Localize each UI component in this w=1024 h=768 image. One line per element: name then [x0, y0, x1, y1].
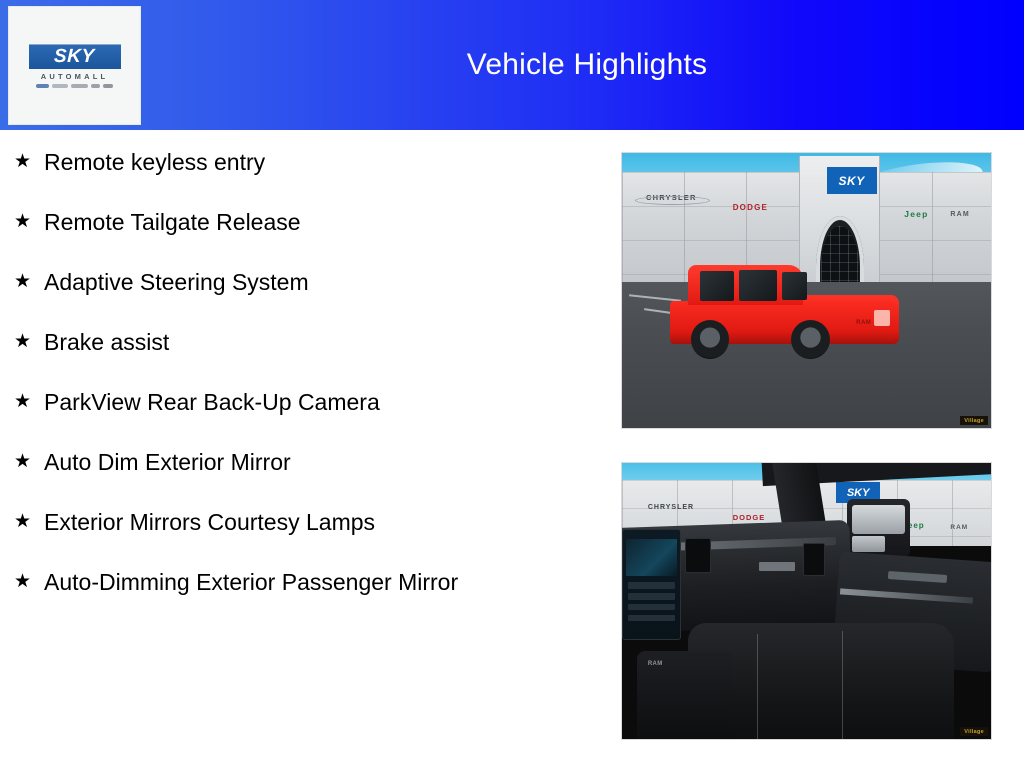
infotainment-touchscreen	[622, 529, 681, 639]
list-item: ★ Exterior Mirrors Courtesy Lamps	[0, 506, 600, 538]
sky-logo-text: SKY	[54, 47, 95, 66]
interior-scene: SKY CHRYSLER DODGE Jeep RAM	[622, 463, 991, 739]
page-title: Vehicle Highlights	[150, 0, 1024, 130]
list-item: ★ Brake assist	[0, 326, 600, 358]
truck-window	[739, 270, 778, 301]
sky-sign-text: SKY	[838, 174, 864, 188]
rear-wheel	[791, 320, 830, 359]
sky-sign-text: SKY	[847, 487, 870, 499]
list-item: ★ Adaptive Steering System	[0, 266, 600, 298]
sky-logo-plate: SKY	[29, 44, 121, 69]
dodge-sign: DODGE	[733, 513, 766, 522]
slide-header: SKY AUTOMALL Vehicle Highlights	[0, 0, 1024, 130]
mirror-glass-main	[852, 505, 905, 534]
seat-seam	[842, 631, 843, 740]
dodge-brandmark-icon	[52, 84, 68, 88]
screen-map-view	[626, 539, 676, 576]
chrysler-brandmark-icon	[36, 84, 49, 88]
air-vent	[685, 538, 711, 574]
ram-brandmark-icon	[91, 84, 100, 88]
ram-truck: RAM	[670, 263, 899, 362]
screen-row	[628, 582, 676, 589]
truck-window	[700, 271, 734, 301]
star-bullet-icon: ★	[14, 446, 44, 478]
dealer-logo-card[interactable]: SKY AUTOMALL	[8, 6, 141, 125]
side-mirror	[847, 499, 910, 557]
truck-window	[782, 272, 807, 300]
feature-label: Auto Dim Exterior Mirror	[44, 446, 291, 478]
list-item: ★ ParkView Rear Back-Up Camera	[0, 386, 600, 418]
ram-sign: RAM	[950, 211, 970, 218]
star-bullet-icon: ★	[14, 566, 44, 598]
chrysler-sign: CHRYSLER	[646, 193, 697, 202]
feature-label: Adaptive Steering System	[44, 266, 309, 298]
seat-seam	[757, 634, 758, 740]
feature-label: ParkView Rear Back-Up Camera	[44, 386, 380, 418]
dodge-sign: DODGE	[733, 203, 768, 212]
vehicle-highlights-list: ★ Remote keyless entry ★ Remote Tailgate…	[0, 146, 600, 626]
dashboard-badge	[759, 562, 796, 570]
photo-watermark: Village	[960, 727, 988, 736]
screen-row	[628, 615, 676, 622]
brand-marks-row	[29, 84, 121, 88]
air-vent	[803, 543, 825, 576]
star-bullet-icon: ★	[14, 386, 44, 418]
jeep-brandmark-icon	[71, 84, 88, 88]
exterior-scene: SKY CHRYSLER DODGE Jeep RAM	[622, 153, 991, 428]
ram-sign: RAM	[950, 524, 968, 531]
console-badge: RAM	[648, 661, 663, 667]
slide-root: SKY AUTOMALL Vehicle Highlights ★ Remote…	[0, 0, 1024, 768]
star-bullet-icon: ★	[14, 206, 44, 238]
fiat-brandmark-icon	[103, 84, 113, 88]
jeep-sign: Jeep	[904, 209, 928, 219]
screen-row	[628, 593, 676, 600]
star-bullet-icon: ★	[14, 266, 44, 298]
star-bullet-icon: ★	[14, 146, 44, 178]
list-item: ★ Remote Tailgate Release	[0, 206, 600, 238]
chrysler-sign: CHRYSLER	[648, 504, 694, 511]
dealer-logo: SKY AUTOMALL	[29, 44, 121, 88]
automall-logo-subtitle: AUTOMALL	[29, 72, 121, 81]
feature-label: Brake assist	[44, 326, 169, 358]
list-item: ★ Remote keyless entry	[0, 146, 600, 178]
star-bullet-icon: ★	[14, 326, 44, 358]
screen-row	[628, 604, 676, 611]
list-item: ★ Auto-Dimming Exterior Passenger Mirror	[0, 566, 600, 598]
feature-label: Exterior Mirrors Courtesy Lamps	[44, 506, 375, 538]
mirror-glass-spotter	[852, 536, 885, 552]
feature-label: Remote keyless entry	[44, 146, 265, 178]
vehicle-interior-photo[interactable]: SKY CHRYSLER DODGE Jeep RAM	[621, 462, 992, 740]
tail-light	[874, 310, 890, 327]
star-bullet-icon: ★	[14, 506, 44, 538]
photo-watermark: Village	[960, 416, 988, 425]
feature-label: Auto-Dimming Exterior Passenger Mirror	[44, 566, 458, 598]
vehicle-exterior-photo[interactable]: SKY CHRYSLER DODGE Jeep RAM	[621, 152, 992, 429]
list-item: ★ Auto Dim Exterior Mirror	[0, 446, 600, 478]
truck-tailgate-badge: RAM	[856, 320, 871, 326]
feature-label: Remote Tailgate Release	[44, 206, 301, 238]
sky-dealership-sign: SKY	[827, 167, 877, 195]
front-wheel	[691, 320, 730, 359]
